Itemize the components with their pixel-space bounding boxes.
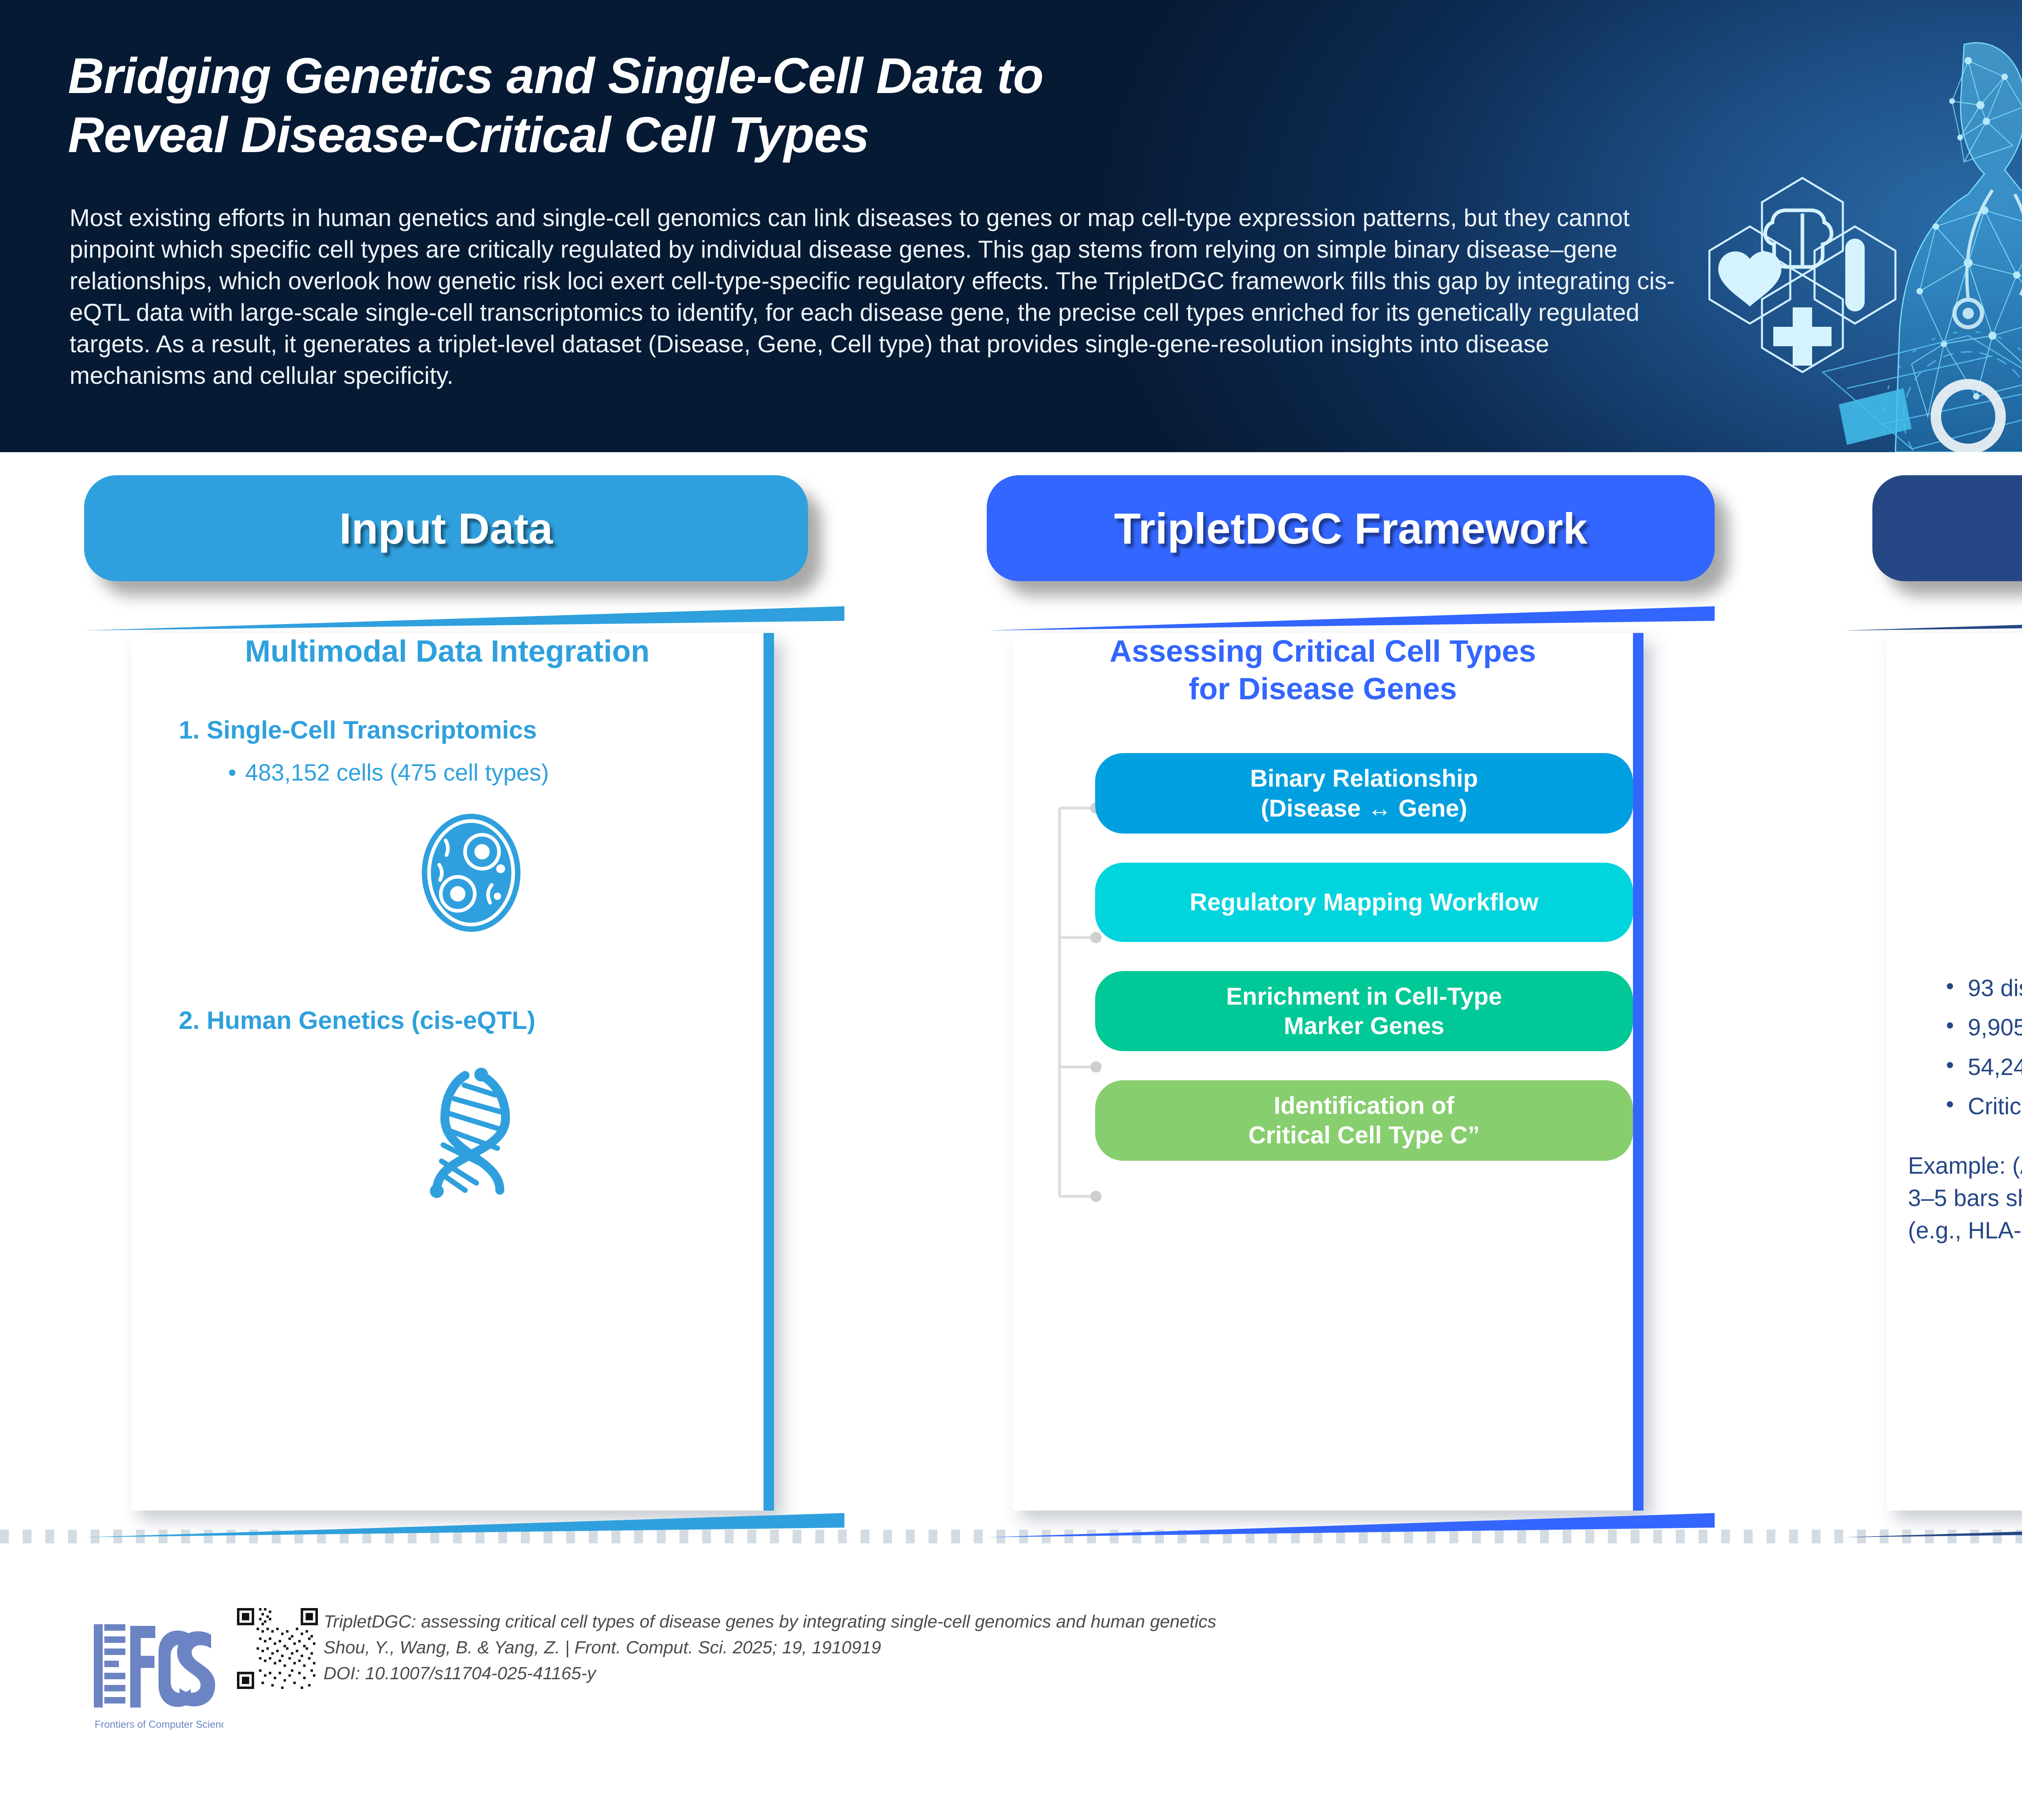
fcs-logo-subtitle: Frontiers of Computer Science	[95, 1719, 223, 1730]
flow-step-1-line1: Binary Relationship	[1250, 764, 1478, 793]
flow-step-4-line2: Critical Cell Type C”	[1248, 1120, 1480, 1150]
output-example-line1: Example: (Asthma Case Study)	[1908, 1150, 2022, 1182]
triad-diagram-container: Critical Cell Type	[1887, 692, 2022, 943]
output-example: Example: (Asthma Case Study) 3–5 bars sh…	[1908, 1150, 2022, 1247]
panel-output-card: TripletDGC Output Critical Cell Type	[1887, 633, 2022, 1511]
cell-icon-container	[179, 808, 764, 938]
input-item-1-sub-text: 483,152 cells (475 cell types)	[245, 760, 549, 786]
poster-title-line2: Reveal Disease-Critical Cell Types	[68, 106, 1402, 165]
panel-input-card-title: Multimodal Data Integration	[131, 633, 764, 671]
input-item-1-sub: • 483,152 cells (475 cell types)	[228, 759, 764, 786]
panel-input-header-label: Input Data	[339, 503, 553, 554]
brain-icon	[1765, 210, 1832, 267]
panel-framework-card: Assessing Critical Cell Types for Diseas…	[1013, 633, 1643, 1511]
flow-step-4-line1: Identification of	[1248, 1091, 1480, 1120]
output-stats-list: 93 diseases 9,905 disease genes 54,240 D…	[1943, 973, 2022, 1122]
panel-output: Output Dataset TripletDGC Output	[1843, 475, 2022, 1511]
poster-footer: Frontiers of Computer Science	[0, 1565, 2022, 1820]
input-item-2-number: 2.	[179, 1007, 200, 1035]
panel-output-card-wrap: TripletDGC Output Critical Cell Type	[1843, 633, 2022, 1511]
panel-input-header-pill[interactable]: Input Data	[84, 475, 808, 581]
output-stat-3: 54,240 D–G pairs	[1943, 1052, 2022, 1082]
panel-input-card: Multimodal Data Integration 1. Single-Ce…	[131, 633, 774, 1511]
wireframe-doctor-illustration	[1685, 0, 2022, 452]
flow-step-4[interactable]: Identification of Critical Cell Type C”	[1095, 1080, 1633, 1160]
output-stat-1: 93 diseases	[1943, 973, 2022, 1003]
ribbon-top-input	[84, 606, 844, 635]
cell-icon	[412, 808, 530, 938]
fcs-journal-logo: Frontiers of Computer Science	[90, 1610, 223, 1735]
heart-icon	[1718, 252, 1781, 307]
panel-framework: TripletDGC Framework Assessing Critical …	[987, 475, 1715, 1511]
output-stat-4: Critical cell types per gene (avg 1.37)	[1943, 1091, 2022, 1122]
panel-framework-header-label: TripletDGC Framework	[1114, 503, 1587, 554]
flow-step-1[interactable]: Binary Relationship (Disease ↔ Gene)	[1095, 753, 1633, 833]
flow-step-2[interactable]: Regulatory Mapping Workflow	[1095, 863, 1633, 942]
panel-framework-header-pill[interactable]: TripletDGC Framework	[987, 475, 1715, 581]
poster-abstract: Most existing efforts in human genetics …	[70, 202, 1679, 392]
bullet-dot-icon: •	[228, 759, 239, 786]
flow-step-3-line1: Enrichment in Cell-Type	[1226, 982, 1502, 1011]
panel-input-data: Input Data Multimodal Data Integration 1…	[84, 475, 844, 1511]
ribbon-top-framework	[987, 606, 1715, 635]
citation-block: TripletDGC: assessing critical cell type…	[324, 1609, 1216, 1687]
ribbon-top-output	[1843, 606, 2022, 635]
output-stat-2: 9,905 disease genes	[1943, 1012, 2022, 1043]
citation-title: TripletDGC: assessing critical cell type…	[324, 1609, 1216, 1635]
citation-authors: Shou, Y., Wang, B. & Yang, Z. | Front. C…	[324, 1635, 1216, 1661]
panel-output-header-pill[interactable]: Output Dataset	[1872, 475, 2022, 581]
poster-header: Bridging Genetics and Single-Cell Data t…	[0, 0, 2022, 452]
citation-doi: DOI: 10.1007/s11704-025-41165-y	[324, 1661, 1216, 1687]
poster-title-line1: Bridging Genetics and Single-Cell Data t…	[68, 47, 1402, 106]
panel-output-card-title: TripletDGC Output	[1887, 633, 2022, 671]
input-item-1-label: Single-Cell Transcriptomics	[207, 716, 537, 744]
plus-cross-icon	[1773, 307, 1832, 366]
output-example-line3: (e.g., HLA-DR, XCL1)	[1908, 1215, 2022, 1247]
qr-code-icon[interactable]	[237, 1608, 318, 1689]
ribbon-bottom-output	[1843, 1508, 2022, 1537]
framework-flow: Binary Relationship (Disease ↔ Gene) Reg…	[1013, 753, 1633, 1160]
input-item-1-number: 1.	[179, 716, 200, 744]
panel-input-card-wrap: Multimodal Data Integration 1. Single-Ce…	[84, 633, 844, 1511]
ribbon-bottom-framework	[987, 1508, 1715, 1537]
header-artwork	[1685, 0, 2022, 452]
poster-title: Bridging Genetics and Single-Cell Data t…	[68, 47, 1402, 165]
framework-title-line1: Assessing Critical Cell Types	[1013, 633, 1633, 671]
output-example-line2: 3–5 bars showing key asthma genes	[1908, 1182, 2022, 1215]
flow-step-2-line1: Regulatory Mapping Workflow	[1190, 887, 1538, 917]
dna-helix-icon	[404, 1062, 538, 1203]
panel-framework-card-title: Assessing Critical Cell Types for Diseas…	[1013, 633, 1633, 708]
framework-title-line2: for Disease Genes	[1013, 671, 1633, 708]
flow-step-3[interactable]: Enrichment in Cell-Type Marker Genes	[1095, 971, 1633, 1051]
input-item-2: 2. Human Genetics (cis-eQTL)	[179, 1006, 764, 1035]
ribbon-bottom-input	[84, 1508, 844, 1537]
input-items-list: 1. Single-Cell Transcriptomics • 483,152…	[179, 716, 764, 1203]
poster-root: Bridging Genetics and Single-Cell Data t…	[0, 0, 2022, 1820]
input-item-2-label: Human Genetics (cis-eQTL)	[207, 1007, 535, 1035]
flow-step-1-line2: (Disease ↔ Gene)	[1250, 794, 1478, 823]
flow-step-3-line2: Marker Genes	[1226, 1011, 1502, 1041]
panel-framework-card-wrap: Assessing Critical Cell Types for Diseas…	[987, 633, 1715, 1511]
input-item-1: 1. Single-Cell Transcriptomics	[179, 716, 764, 745]
dna-icon-container	[179, 1062, 764, 1203]
